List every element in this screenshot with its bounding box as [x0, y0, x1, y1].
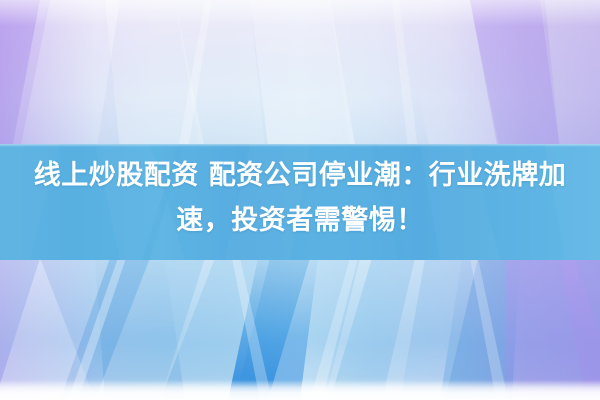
- page-title: 线上炒股配资 配资公司停业潮：行业洗牌加速，投资者需警惕！: [0, 144, 600, 243]
- headline-band: 线上炒股配资 配资公司停业潮：行业洗牌加速，投资者需警惕！: [0, 144, 600, 260]
- article-header-banner: 线上炒股配资 配资公司停业潮：行业洗牌加速，投资者需警惕！: [0, 0, 600, 400]
- watermark: [272, 382, 316, 396]
- top-highlight-wash: [0, 0, 600, 26]
